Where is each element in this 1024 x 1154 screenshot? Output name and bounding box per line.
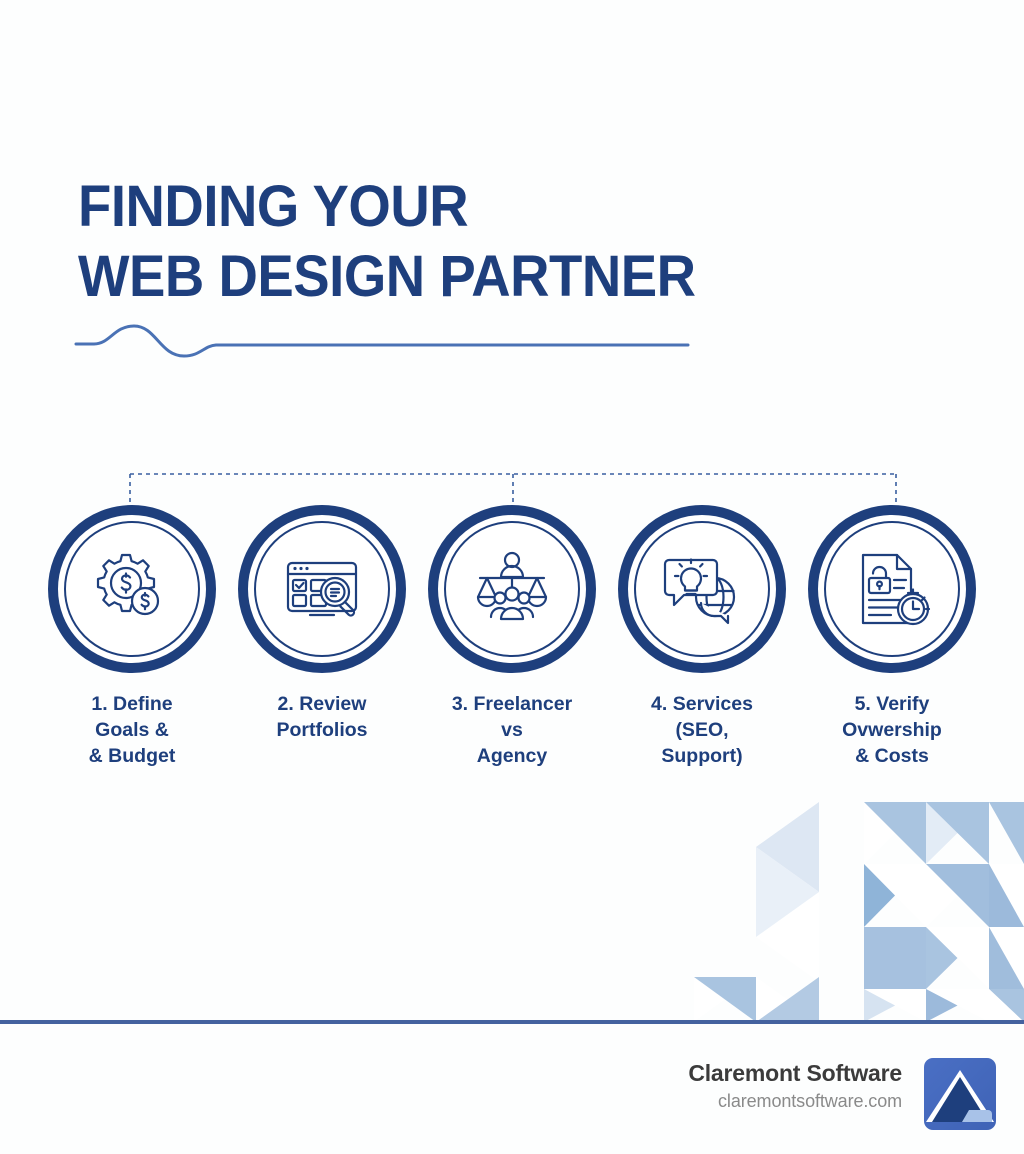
gear-dollar-icon bbox=[90, 547, 174, 631]
step-services-seo-support[interactable]: 4. Services (SEO, Support) bbox=[607, 505, 797, 769]
balance-scale-people-icon bbox=[470, 547, 554, 631]
infographic-canvas: FINDING YOUR WEB DESIGN PARTNER bbox=[0, 0, 1024, 1154]
step-verify-ownership-costs[interactable]: 5. Verify Ovwership & Costs bbox=[797, 505, 987, 769]
step-3-circle[interactable] bbox=[428, 505, 596, 673]
step-define-goals-budget[interactable]: 1. Define Goals & & Budget bbox=[37, 505, 227, 769]
step-4-label: 4. Services (SEO, Support) bbox=[651, 691, 753, 769]
step-2-label: 2. Review Portfolios bbox=[277, 691, 368, 743]
step-5-circle[interactable] bbox=[808, 505, 976, 673]
steps-row: 1. Define Goals & & Budget bbox=[0, 505, 1024, 769]
brand-name: Claremont Software bbox=[688, 1058, 902, 1088]
step-3-label: 3. Freelancer vs Agency bbox=[452, 691, 572, 769]
page-title: FINDING YOUR WEB DESIGN PARTNER bbox=[78, 172, 735, 312]
title-line-1: FINDING YOUR bbox=[78, 172, 696, 242]
brand-url[interactable]: claremontsoftware.com bbox=[688, 1088, 902, 1114]
brand-block: Claremont Software claremontsoftware.com bbox=[688, 1058, 902, 1114]
step-1-label: 1. Define Goals & & Budget bbox=[89, 691, 176, 769]
title-line-2: WEB DESIGN PARTNER bbox=[78, 242, 696, 312]
speech-bubble-lightbulb-globe-icon bbox=[660, 547, 744, 631]
step-1-circle[interactable] bbox=[48, 505, 216, 673]
wave-divider-icon bbox=[72, 322, 692, 366]
footer-divider bbox=[0, 1020, 1024, 1024]
step-5-label: 5. Verify Ovwership & Costs bbox=[842, 691, 942, 769]
footer: Claremont Software claremontsoftware.com bbox=[0, 1058, 1024, 1154]
step-4-circle[interactable] bbox=[618, 505, 786, 673]
step-2-circle[interactable] bbox=[238, 505, 406, 673]
triangle-mosaic-decoration bbox=[694, 782, 1024, 1022]
step-review-portfolios[interactable]: 2. Review Portfolios bbox=[227, 505, 417, 769]
claremont-mountain-logo[interactable] bbox=[924, 1058, 996, 1130]
browser-magnifier-icon bbox=[280, 547, 364, 631]
step-freelancer-vs-agency[interactable]: 3. Freelancer vs Agency bbox=[417, 505, 607, 769]
locked-document-clock-icon bbox=[850, 547, 934, 631]
